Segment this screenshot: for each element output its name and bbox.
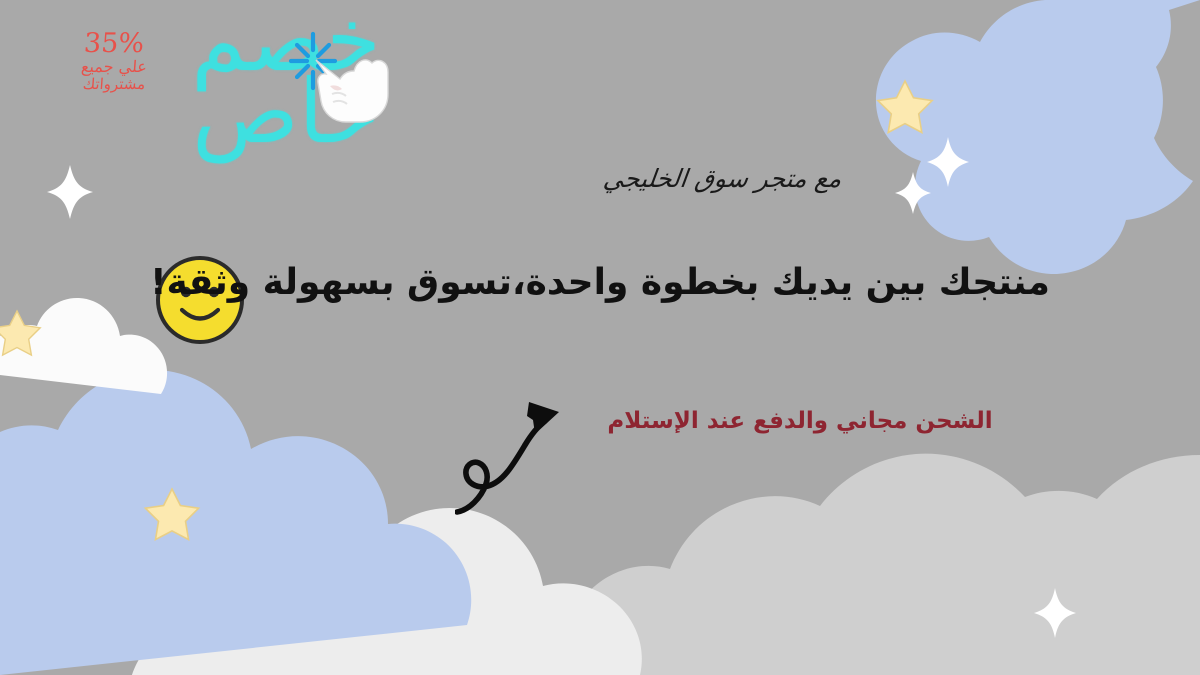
- cloud-left-small-white: [0, 298, 167, 394]
- discount-subline-1: علي جميع: [61, 59, 166, 75]
- star-top-right: [878, 81, 932, 133]
- discount-percent-value: 35%: [61, 30, 167, 58]
- sparkle-mid-top-b: [927, 137, 969, 187]
- sparkle-mid-top-a: [895, 172, 931, 214]
- cloud-bottom-left-blue: [0, 370, 471, 675]
- discount-callout: 35% علي جميع مشترواتك: [62, 30, 166, 92]
- pointing-hand-click-icon: [286, 24, 390, 128]
- shipping-payment-note: الشحن مجاني والدفع عند الإستلام: [585, 409, 1015, 434]
- star-left-small: [0, 311, 40, 355]
- star-bottom-left: [145, 489, 198, 540]
- main-headline: منتجك بين يديك بخطوة واحدة،تسوق بسهولة و…: [90, 263, 1110, 303]
- cloud-bottom-left-white: [0, 508, 642, 675]
- cloud-top-right: [876, 0, 1200, 274]
- brand-logo-block: 35% علي جميع مشترواتك خصم خاص: [48, 8, 428, 158]
- sparkle-bottom-right: [1034, 588, 1076, 638]
- sparkle-upper-left: [47, 165, 93, 219]
- cloud-bottom-right-gray: [565, 454, 1200, 675]
- promo-banner-canvas: 35% علي جميع مشترواتك خصم خاص: [0, 0, 1200, 675]
- curly-arrow-up-right-icon: [455, 392, 575, 517]
- discount-subline-2: مشترواتك: [61, 77, 166, 92]
- store-subline: مع متجر سوق الخليجي: [588, 164, 857, 194]
- sparkle-bottom-center: [896, 132, 924, 165]
